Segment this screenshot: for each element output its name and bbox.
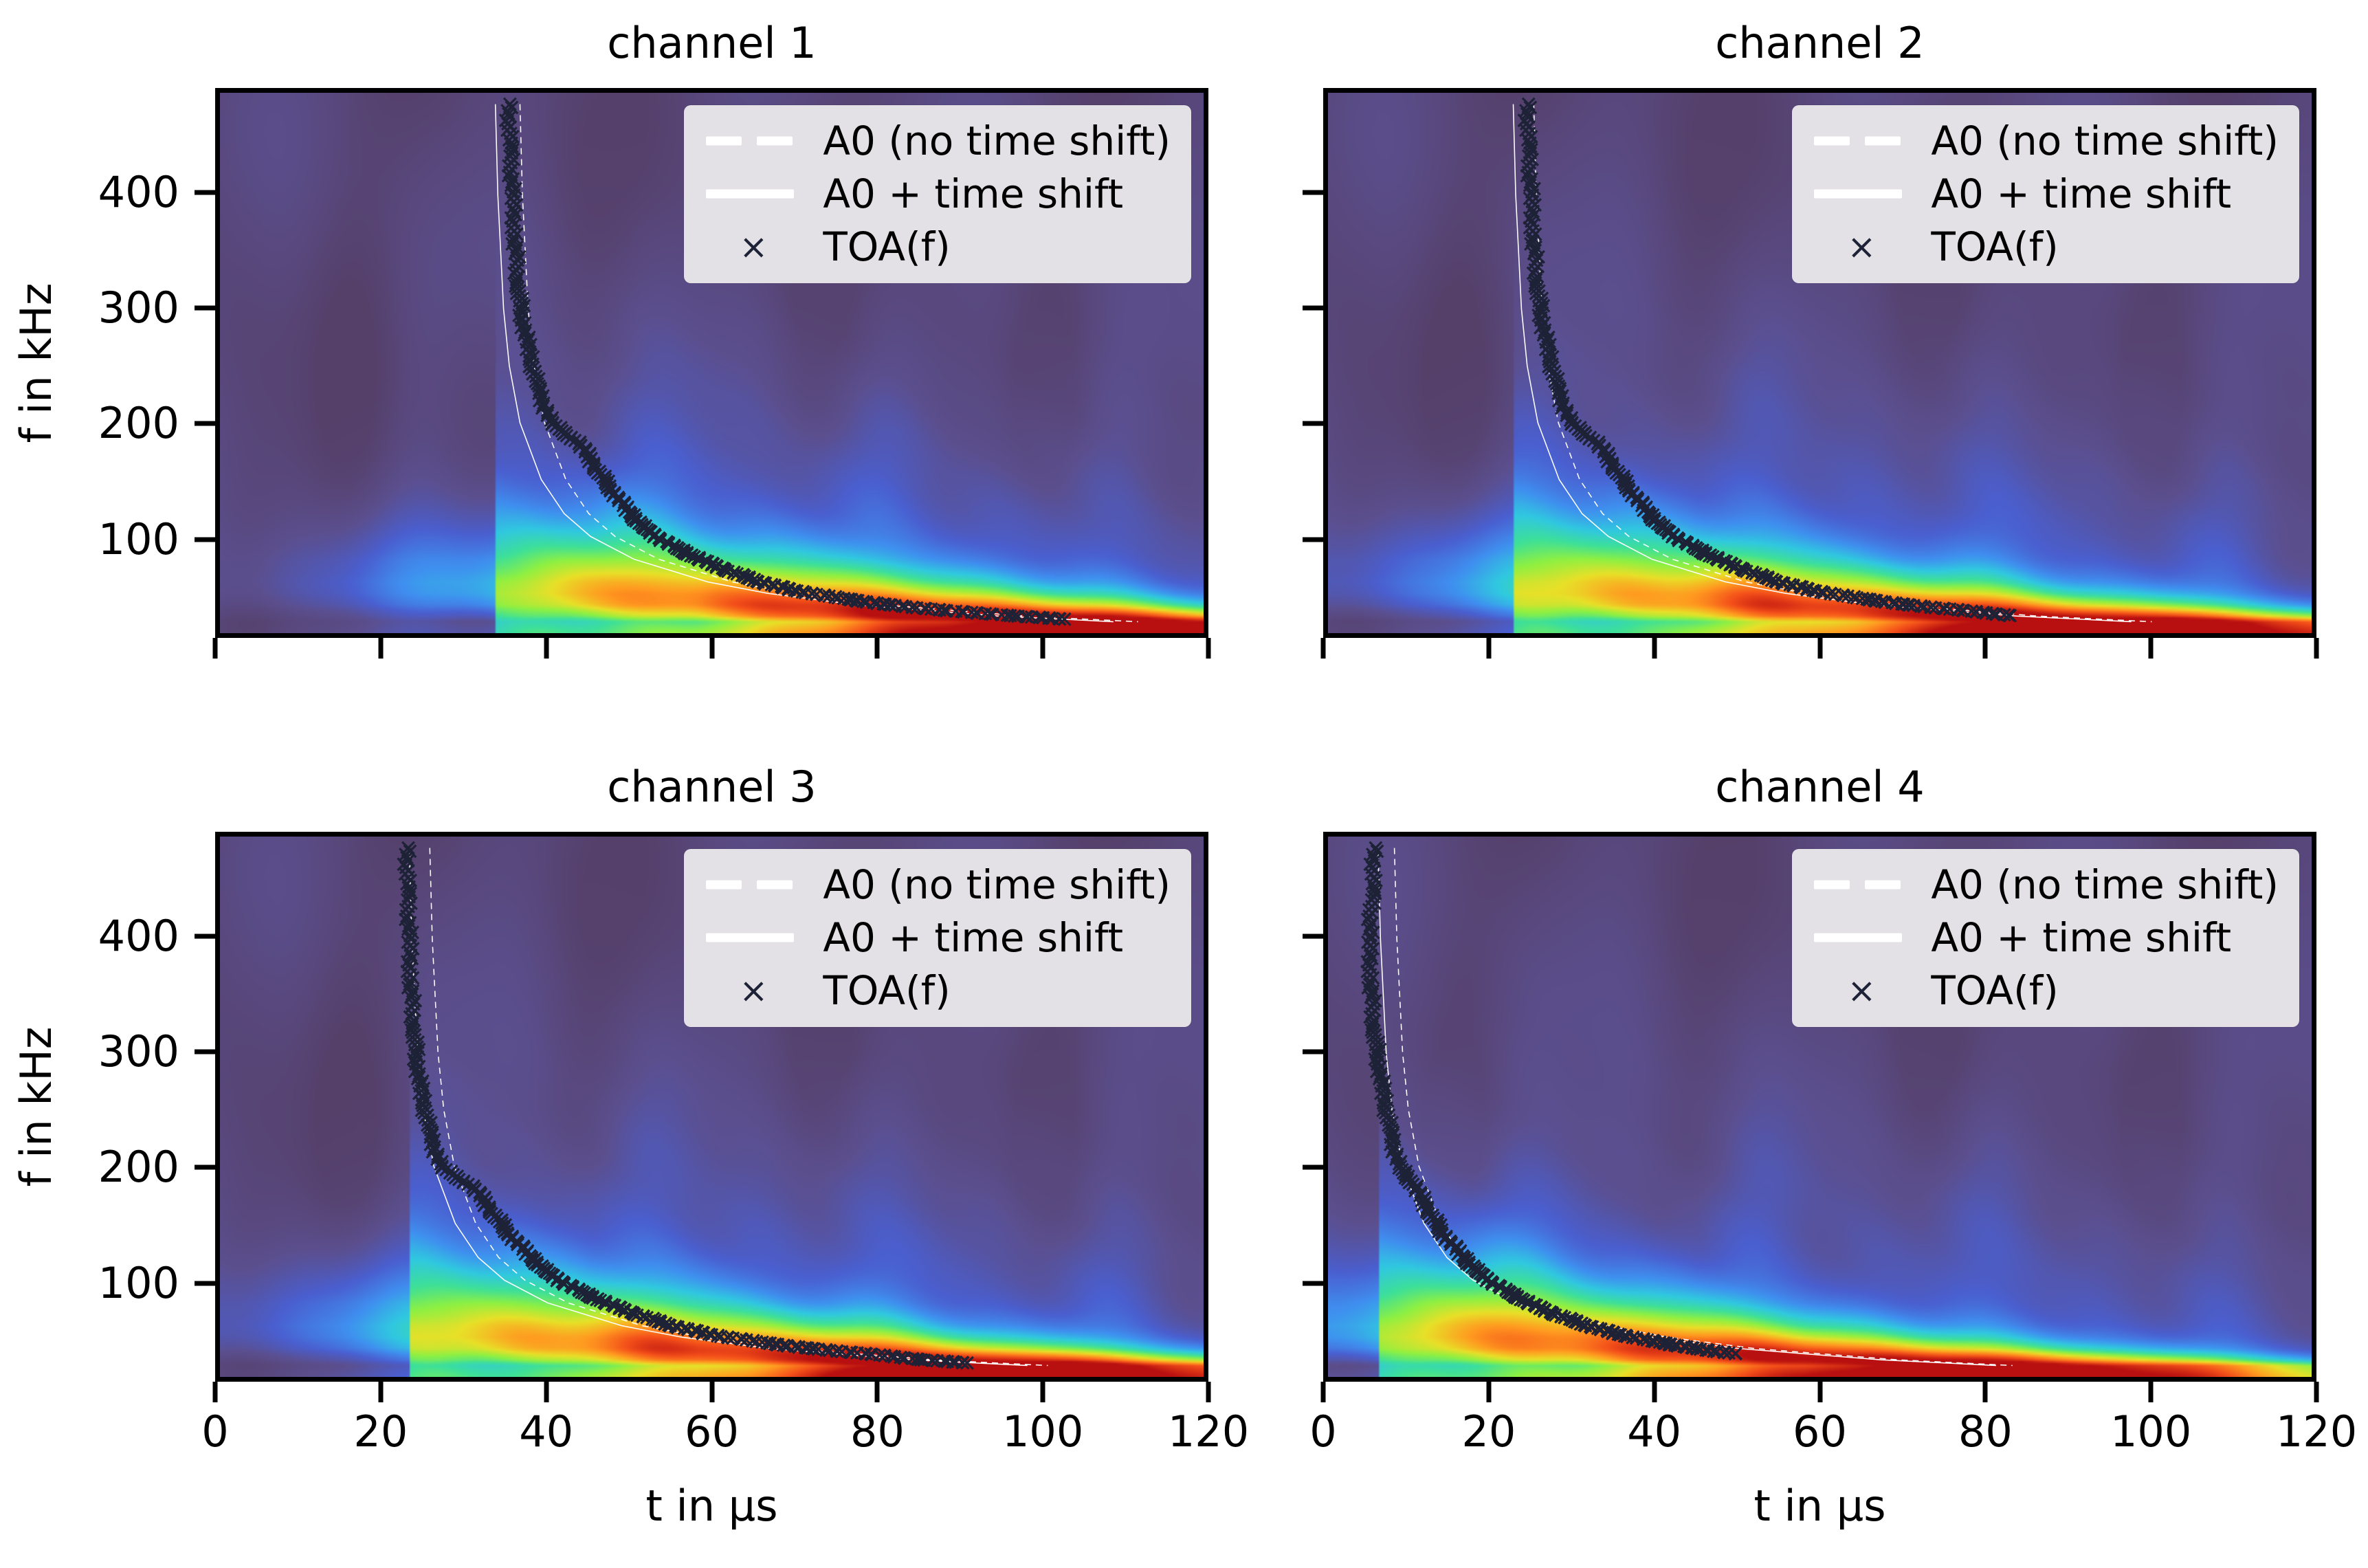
- xtick-channel-1-6: [1206, 638, 1211, 659]
- legend-label-2: A0 + time shift: [1931, 173, 2231, 215]
- xticklabel-channel-4-2: 40: [1627, 1411, 1681, 1453]
- legend-entry-1[interactable]: A0 (no time shift): [702, 120, 1171, 162]
- xtick-channel-2-5: [2149, 638, 2154, 659]
- ytick-channel-4-3: [1303, 934, 1323, 938]
- legend-entry-3[interactable]: ×TOA(f): [1810, 970, 2279, 1012]
- dashed-line-icon: [1810, 870, 1913, 900]
- xticklabel-channel-4-3: 60: [1793, 1411, 1847, 1453]
- xticklabel-channel-3-3: 60: [685, 1411, 739, 1453]
- xtick-channel-4-3: [1817, 1382, 1822, 1402]
- xtick-channel-1-2: [544, 638, 549, 659]
- xtick-channel-2-0: [1321, 638, 1326, 659]
- ytick-channel-4-0: [1303, 1281, 1323, 1285]
- subplot-channel-1: channel 1A0 (no time shift)A0 + time shi…: [215, 88, 1208, 638]
- solid-line-icon: [702, 179, 805, 209]
- yaxis-label-channel-1: f in kHz: [15, 283, 58, 443]
- yticklabel-channel-1-0: 100: [98, 518, 179, 561]
- ytick-channel-2-1: [1303, 421, 1323, 426]
- ytick-channel-3-3: [195, 934, 215, 938]
- solid-line-icon: [702, 923, 805, 953]
- legend-entry-2[interactable]: A0 + time shift: [1810, 173, 2279, 215]
- xtick-channel-3-5: [1041, 1382, 1045, 1402]
- xtick-channel-4-0: [1321, 1382, 1326, 1402]
- legend-entry-1[interactable]: A0 (no time shift): [702, 864, 1171, 906]
- solid-line-icon: [1810, 179, 1913, 209]
- xtick-channel-2-2: [1652, 638, 1657, 659]
- ytick-channel-3-0: [195, 1281, 215, 1285]
- xtick-channel-3-3: [709, 1382, 714, 1402]
- xticklabel-channel-3-0: 0: [201, 1411, 228, 1453]
- legend-label-3: TOA(f): [823, 970, 950, 1012]
- subplot-title-channel-1: channel 1: [215, 22, 1208, 65]
- xtick-channel-1-3: [709, 638, 714, 659]
- legend-label-2: A0 + time shift: [823, 917, 1123, 959]
- subplot-channel-2: channel 2A0 (no time shift)A0 + time shi…: [1323, 88, 2316, 638]
- legend-entry-2[interactable]: A0 + time shift: [1810, 917, 2279, 959]
- cross-marker-icon: ×: [1810, 232, 1913, 262]
- ytick-channel-2-2: [1303, 306, 1323, 311]
- legend-channel-1: A0 (no time shift)A0 + time shift×TOA(f): [684, 105, 1191, 283]
- yticklabel-channel-3-2: 300: [98, 1030, 179, 1073]
- legend-entry-1[interactable]: A0 (no time shift): [1810, 864, 2279, 906]
- ytick-channel-4-1: [1303, 1165, 1323, 1170]
- solid-line-icon: [1810, 923, 1913, 953]
- xtick-channel-1-0: [213, 638, 218, 659]
- xaxis-label-channel-3: t in µs: [215, 1485, 1208, 1527]
- legend-entry-2[interactable]: A0 + time shift: [702, 917, 1171, 959]
- cross-marker-icon: ×: [1810, 975, 1913, 1006]
- legend-entry-3[interactable]: ×TOA(f): [702, 970, 1171, 1012]
- legend-label-3: TOA(f): [1931, 226, 2058, 268]
- xticklabel-channel-3-4: 80: [850, 1411, 905, 1453]
- ytick-channel-1-2: [195, 306, 215, 311]
- subplot-title-channel-2: channel 2: [1323, 22, 2316, 65]
- xticklabel-channel-3-6: 120: [1168, 1411, 1249, 1453]
- xticklabel-channel-4-0: 0: [1309, 1411, 1336, 1453]
- legend-entry-3[interactable]: ×TOA(f): [1810, 226, 2279, 268]
- cross-marker-icon: ×: [702, 975, 805, 1006]
- ytick-channel-4-2: [1303, 1050, 1323, 1054]
- xtick-channel-4-2: [1652, 1382, 1657, 1402]
- legend-label-1: A0 (no time shift): [823, 864, 1171, 906]
- xtick-channel-3-0: [213, 1382, 218, 1402]
- subplot-channel-3: channel 3A0 (no time shift)A0 + time shi…: [215, 832, 1208, 1382]
- legend-label-2: A0 + time shift: [1931, 917, 2231, 959]
- subplot-title-channel-3: channel 3: [215, 766, 1208, 808]
- xtick-channel-3-2: [544, 1382, 549, 1402]
- xtick-channel-4-5: [2149, 1382, 2154, 1402]
- legend-label-2: A0 + time shift: [823, 173, 1123, 215]
- yticklabel-channel-1-3: 400: [98, 171, 179, 214]
- xtick-channel-2-1: [1486, 638, 1491, 659]
- xtick-channel-3-4: [875, 1382, 880, 1402]
- legend-channel-3: A0 (no time shift)A0 + time shift×TOA(f): [684, 849, 1191, 1027]
- plot-area-channel-2: A0 (no time shift)A0 + time shift×TOA(f): [1323, 88, 2316, 638]
- xticklabel-channel-3-5: 100: [1002, 1411, 1083, 1453]
- xtick-channel-1-4: [875, 638, 880, 659]
- subplot-channel-4: channel 4A0 (no time shift)A0 + time shi…: [1323, 832, 2316, 1382]
- legend-label-3: TOA(f): [1931, 970, 2058, 1012]
- xtick-channel-1-5: [1041, 638, 1045, 659]
- legend-label-1: A0 (no time shift): [1931, 864, 2279, 906]
- plot-area-channel-4: A0 (no time shift)A0 + time shift×TOA(f): [1323, 832, 2316, 1382]
- ytick-channel-1-0: [195, 537, 215, 542]
- ytick-channel-3-2: [195, 1050, 215, 1054]
- xtick-channel-4-1: [1486, 1382, 1491, 1402]
- xaxis-label-channel-4: t in µs: [1323, 1485, 2316, 1527]
- ytick-channel-2-0: [1303, 537, 1323, 542]
- xticklabel-channel-4-5: 100: [2110, 1411, 2191, 1453]
- legend-label-1: A0 (no time shift): [823, 120, 1171, 162]
- yticklabel-channel-1-2: 300: [98, 287, 179, 329]
- legend-label-3: TOA(f): [823, 226, 950, 268]
- yticklabel-channel-3-1: 200: [98, 1146, 179, 1189]
- xticklabel-channel-4-4: 80: [1958, 1411, 2013, 1453]
- xticklabel-channel-3-2: 40: [519, 1411, 573, 1453]
- ytick-channel-3-1: [195, 1165, 215, 1170]
- xticklabel-channel-4-6: 120: [2276, 1411, 2357, 1453]
- ytick-channel-1-1: [195, 421, 215, 426]
- dashed-line-icon: [702, 870, 805, 900]
- xticklabel-channel-3-1: 20: [353, 1411, 408, 1453]
- plot-area-channel-3: A0 (no time shift)A0 + time shift×TOA(f): [215, 832, 1208, 1382]
- yticklabel-channel-1-1: 200: [98, 402, 179, 445]
- ytick-channel-1-3: [195, 190, 215, 195]
- ytick-channel-2-3: [1303, 190, 1323, 195]
- yaxis-label-channel-3: f in kHz: [15, 1027, 58, 1187]
- figure-root: channel 1A0 (no time shift)A0 + time shi…: [0, 0, 2368, 1568]
- dashed-line-icon: [702, 126, 805, 156]
- yticklabel-channel-3-3: 400: [98, 915, 179, 958]
- legend-entry-2[interactable]: A0 + time shift: [702, 173, 1171, 215]
- legend-channel-4: A0 (no time shift)A0 + time shift×TOA(f): [1792, 849, 2299, 1027]
- legend-channel-2: A0 (no time shift)A0 + time shift×TOA(f): [1792, 105, 2299, 283]
- xtick-channel-2-6: [2314, 638, 2319, 659]
- subplot-title-channel-4: channel 4: [1323, 766, 2316, 808]
- dashed-line-icon: [1810, 126, 1913, 156]
- plot-area-channel-1: A0 (no time shift)A0 + time shift×TOA(f): [215, 88, 1208, 638]
- legend-label-1: A0 (no time shift): [1931, 120, 2279, 162]
- legend-entry-1[interactable]: A0 (no time shift): [1810, 120, 2279, 162]
- xtick-channel-3-6: [1206, 1382, 1211, 1402]
- xtick-channel-2-3: [1817, 638, 1822, 659]
- cross-marker-icon: ×: [702, 232, 805, 262]
- yticklabel-channel-3-0: 100: [98, 1262, 179, 1305]
- xticklabel-channel-4-1: 20: [1461, 1411, 1516, 1453]
- xtick-channel-3-1: [378, 1382, 383, 1402]
- xtick-channel-4-6: [2314, 1382, 2319, 1402]
- xtick-channel-2-4: [1983, 638, 1988, 659]
- xtick-channel-1-1: [378, 638, 383, 659]
- xtick-channel-4-4: [1983, 1382, 1988, 1402]
- legend-entry-3[interactable]: ×TOA(f): [702, 226, 1171, 268]
